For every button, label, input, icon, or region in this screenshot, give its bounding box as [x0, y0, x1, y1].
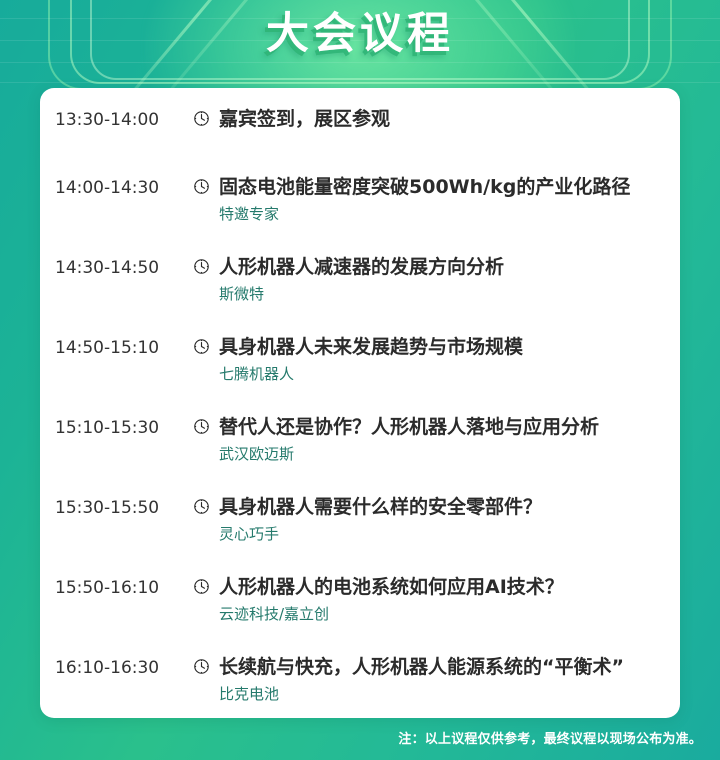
footer: 注：以上议程仅供参考，最终议程以现场公布为准。 — [0, 728, 720, 748]
agenda-row-0[interactable]: 13:30-14:00 嘉宾签到，展区参观 — [55, 106, 664, 146]
session-title: 长续航与快充，人形机器人能源系统的“平衡术” — [219, 654, 664, 681]
agenda-row-6[interactable]: 15:50-16:10 人形机器人的电池系统如何应用AI技术？ 云迹科技/嘉立创 — [55, 574, 664, 626]
agenda-row-4[interactable]: 15:10-15:30 替代人还是协作？人形机器人落地与应用分析 武汉欧迈斯 — [55, 414, 664, 466]
session-text-block: 嘉宾签到，展区参观 — [219, 106, 664, 133]
session-speaker: 比克电池 — [219, 682, 664, 706]
header-scanline-3 — [0, 62, 720, 63]
clock-icon — [193, 418, 210, 435]
clock-icon-cell — [183, 334, 219, 355]
session-text-block: 具身机器人未来发展趋势与市场规模 七腾机器人 — [219, 334, 664, 386]
agenda-row-2[interactable]: 14:30-14:50 人形机器人减速器的发展方向分析 斯微特 — [55, 254, 664, 306]
session-time: 14:00-14:30 — [55, 174, 183, 201]
clock-icon — [193, 338, 210, 355]
clock-icon-cell — [183, 106, 219, 127]
session-title: 替代人还是协作？人形机器人落地与应用分析 — [219, 414, 664, 441]
session-speaker: 云迹科技/嘉立创 — [219, 602, 664, 626]
clock-icon — [193, 658, 210, 675]
session-speaker: 斯微特 — [219, 282, 664, 306]
clock-icon — [193, 258, 210, 275]
session-time: 13:30-14:00 — [55, 106, 183, 133]
session-text-block: 具身机器人需要什么样的安全零部件？ 灵心巧手 — [219, 494, 664, 546]
session-text-block: 长续航与快充，人形机器人能源系统的“平衡术” 比克电池 — [219, 654, 664, 706]
page-title: 大会议程 — [266, 8, 454, 60]
clock-icon-cell — [183, 254, 219, 275]
session-speaker: 七腾机器人 — [219, 362, 664, 386]
session-speaker: 特邀专家 — [219, 202, 664, 226]
session-title: 固态电池能量密度突破500Wh/kg的产业化路径 — [219, 174, 664, 201]
clock-icon — [193, 578, 210, 595]
header-scanline-4 — [0, 82, 720, 83]
session-speaker: 武汉欧迈斯 — [219, 442, 664, 466]
agenda-row-7[interactable]: 16:10-16:30 长续航与快充，人形机器人能源系统的“平衡术” 比克电池 — [55, 654, 664, 706]
footer-note: 注：以上议程仅供参考，最终议程以现场公布为准。 — [398, 732, 702, 747]
session-text-block: 替代人还是协作？人形机器人落地与应用分析 武汉欧迈斯 — [219, 414, 664, 466]
session-time: 14:50-15:10 — [55, 334, 183, 361]
session-time: 15:10-15:30 — [55, 414, 183, 441]
page-title-container: 大会议程 — [0, 8, 720, 60]
clock-icon — [193, 178, 210, 195]
clock-icon-cell — [183, 574, 219, 595]
agenda-row-list: 13:30-14:00 嘉宾签到，展区参观 14:00-14:30 — [40, 106, 680, 718]
session-text-block: 人形机器人的电池系统如何应用AI技术？ 云迹科技/嘉立创 — [219, 574, 664, 626]
session-title: 嘉宾签到，展区参观 — [219, 106, 664, 133]
session-text-block: 固态电池能量密度突破500Wh/kg的产业化路径 特邀专家 — [219, 174, 664, 226]
session-title: 具身机器人未来发展趋势与市场规模 — [219, 334, 664, 361]
session-title: 人形机器人减速器的发展方向分析 — [219, 254, 664, 281]
agenda-row-3[interactable]: 14:50-15:10 具身机器人未来发展趋势与市场规模 七腾机器人 — [55, 334, 664, 386]
agenda-card: 13:30-14:00 嘉宾签到，展区参观 14:00-14:30 — [40, 88, 680, 718]
session-time: 16:10-16:30 — [55, 654, 183, 681]
clock-icon — [193, 498, 210, 515]
clock-icon — [193, 110, 210, 127]
session-title: 人形机器人的电池系统如何应用AI技术？ — [219, 574, 664, 601]
clock-icon-cell — [183, 174, 219, 195]
agenda-poster: 大会议程 13:30-14:00 嘉宾签到，展区参观 14:00-14:30 — [0, 0, 720, 760]
agenda-row-1[interactable]: 14:00-14:30 固态电池能量密度突破500Wh/kg的产业化路径 特邀专… — [55, 174, 664, 226]
clock-icon-cell — [183, 654, 219, 675]
clock-icon-cell — [183, 414, 219, 435]
session-time: 15:50-16:10 — [55, 574, 183, 601]
agenda-row-5[interactable]: 15:30-15:50 具身机器人需要什么样的安全零部件？ 灵心巧手 — [55, 494, 664, 546]
session-text-block: 人形机器人减速器的发展方向分析 斯微特 — [219, 254, 664, 306]
session-title: 具身机器人需要什么样的安全零部件？ — [219, 494, 664, 521]
session-speaker: 灵心巧手 — [219, 522, 664, 546]
session-time: 15:30-15:50 — [55, 494, 183, 521]
clock-icon-cell — [183, 494, 219, 515]
session-time: 14:30-14:50 — [55, 254, 183, 281]
